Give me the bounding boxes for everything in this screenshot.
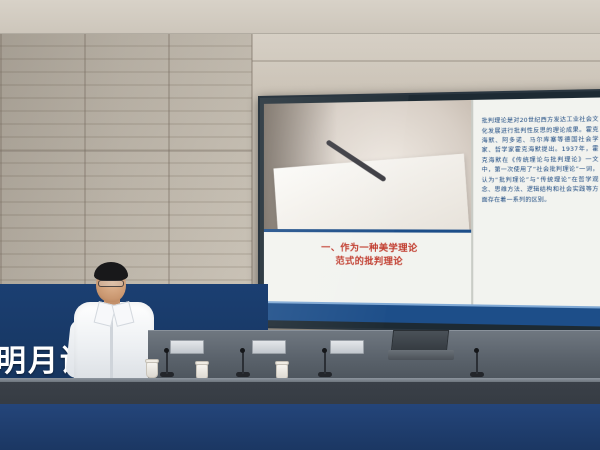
microphone-head: [164, 348, 169, 353]
paper-cup-lid: [195, 361, 209, 365]
microphone-stem: [166, 352, 168, 374]
conference-desk: [148, 330, 600, 382]
paper-cup: [146, 362, 158, 378]
photo-scene: 一、作为一种美学理论 范式的批判理论 批判理论是对20世纪西方发达工业社会文化发…: [0, 0, 600, 450]
microphone-head: [474, 348, 479, 353]
microphone-head: [240, 348, 245, 353]
paper-cup-lid: [145, 359, 159, 363]
eyeglasses: [98, 280, 124, 287]
slide-photo: [264, 100, 471, 230]
laptop-base: [388, 350, 454, 360]
ceiling-strip: [0, 0, 600, 34]
name-plate: [252, 340, 286, 354]
wall-slat-shadow: [0, 34, 252, 284]
microphone-stem: [242, 352, 244, 374]
microphone-head: [322, 348, 327, 353]
presentation-slide: 一、作为一种美学理论 范式的批判理论 批判理论是对20世纪西方发达工业社会文化发…: [264, 97, 600, 326]
wall-joint-3: [168, 34, 170, 294]
wall-joint-h2: [252, 60, 600, 62]
laptop-screen: [391, 330, 449, 352]
microphone-stem: [476, 352, 478, 374]
slide-divider: [471, 100, 473, 324]
microphone-stem: [324, 352, 326, 374]
slide-footer-bar: [264, 303, 600, 327]
slide-title-line1: 一、作为一种美学理论: [321, 244, 418, 255]
name-plate: [330, 340, 364, 354]
wall-joint-1: [0, 34, 2, 294]
desk-blue-skirt: [0, 404, 600, 450]
slide-rule: [264, 229, 471, 233]
slide-title-line2: 范式的批判理论: [283, 255, 457, 270]
projection-screen: 一、作为一种美学理论 范式的批判理论 批判理论是对20世纪西方发达工业社会文化发…: [258, 89, 600, 335]
slide-title: 一、作为一种美学理论 范式的批判理论: [283, 242, 457, 270]
name-plate: [170, 340, 204, 354]
wall-joint-2: [84, 34, 86, 294]
wall-joint-h1: [0, 150, 252, 152]
slide-body-text: 批判理论是对20世纪西方发达工业社会文化发展进行批判性反思的理论成果。霍克海默、…: [482, 116, 599, 206]
paper-cup-lid: [275, 361, 289, 365]
